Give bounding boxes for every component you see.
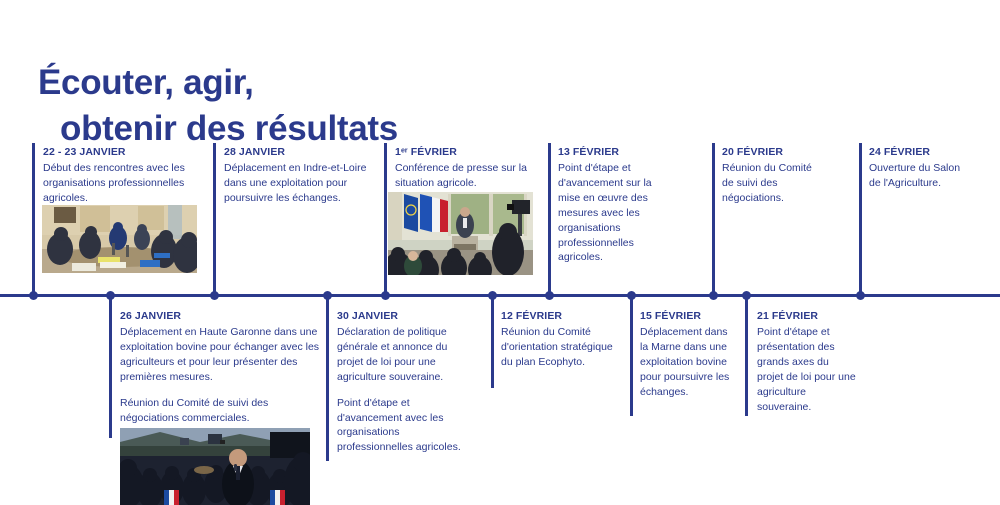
- entry-description-secondary: Point d'étape et d'avancement avec les o…: [337, 396, 467, 456]
- timeline-entry-26-janvier: 26 JANVIER Déplacement en Haute Garonne …: [120, 310, 320, 425]
- entry-date: 1ᵉʳ FÉVRIER: [395, 146, 540, 158]
- entry-date: 22 - 23 JANVIER: [43, 146, 208, 158]
- timeline-entry-28-janvier: 28 JANVIER Déplacement en Indre-et-Loire…: [224, 146, 379, 206]
- entry-description: Ouverture du Salon de l'Agriculture.: [869, 161, 974, 191]
- entry-description: Réunion du Comité de suivi des négociati…: [722, 161, 822, 206]
- timeline-stem-28-janvier: [213, 143, 216, 295]
- timeline-stem-1-fevrier: [384, 143, 387, 295]
- timeline-entry-21-fevrier: 21 FÉVRIER Point d'étape et présentation…: [757, 310, 857, 414]
- timeline-entry-30-janvier: 30 JANVIER Déclaration de politique géné…: [337, 310, 467, 455]
- entry-description: Déclaration de politique générale et ann…: [337, 325, 467, 385]
- timeline-entry-22-23-janvier: 22 - 23 JANVIER Début des rencontres ave…: [43, 146, 208, 206]
- entry-date: 24 FÉVRIER: [869, 146, 974, 158]
- outdoor-crowd-photo-graphic: [120, 428, 310, 505]
- timeline-entry-12-fevrier: 12 FÉVRIER Réunion du Comité d'orientati…: [501, 310, 621, 370]
- meeting-room-photo-graphic: [42, 205, 197, 273]
- entry-description: Point d'étape et présentation des grands…: [757, 325, 857, 414]
- timeline-entry-1-fevrier: 1ᵉʳ FÉVRIER Conférence de presse sur la …: [395, 146, 540, 191]
- entry-date: 26 JANVIER: [120, 310, 320, 322]
- timeline-stem-30-janvier: [326, 296, 329, 461]
- meeting-room-photo: [42, 205, 197, 273]
- outdoor-crowd-photo: [120, 428, 310, 505]
- entry-date: 30 JANVIER: [337, 310, 467, 322]
- timeline-entry-20-fevrier: 20 FÉVRIER Réunion du Comité de suivi de…: [722, 146, 822, 206]
- entry-date: 20 FÉVRIER: [722, 146, 822, 158]
- press-conference-photo-graphic: [388, 192, 533, 275]
- timeline-stem-24-fevrier: [859, 143, 862, 295]
- timeline-axis: [0, 294, 1000, 297]
- entry-description: Déplacement en Indre-et-Loire dans une e…: [224, 161, 379, 206]
- timeline-stem-22-23-janvier: [32, 143, 35, 295]
- entry-date: 13 FÉVRIER: [558, 146, 663, 158]
- timeline-entry-24-fevrier: 24 FÉVRIER Ouverture du Salon de l'Agric…: [869, 146, 974, 191]
- entry-description-secondary: Réunion du Comité de suivi des négociati…: [120, 396, 320, 426]
- entry-description: Déplacement en Haute Garonne dans une ex…: [120, 325, 320, 385]
- timeline-infographic: Écouter, agir, obtenir des résultats 22 …: [0, 0, 1000, 505]
- entry-description: Conférence de presse sur la situation ag…: [395, 161, 540, 191]
- press-conference-photo: [388, 192, 533, 275]
- timeline-stem-12-fevrier: [491, 296, 494, 388]
- entry-date: 21 FÉVRIER: [757, 310, 857, 322]
- page-title-line-1: Écouter, agir,: [38, 63, 254, 102]
- timeline-stem-15-fevrier: [630, 296, 633, 416]
- entry-date: 28 JANVIER: [224, 146, 379, 158]
- entry-date: 15 FÉVRIER: [640, 310, 732, 322]
- timeline-stem-21-fevrier: [745, 296, 748, 416]
- entry-description: Début des rencontres avec les organisati…: [43, 161, 208, 206]
- entry-description: Déplacement dans la Marne dans une explo…: [640, 325, 732, 400]
- timeline-stem-26-janvier: [109, 296, 112, 438]
- timeline-entry-13-fevrier: 13 FÉVRIER Point d'étape et d'avancement…: [558, 146, 663, 265]
- timeline-stem-13-fevrier: [548, 143, 551, 295]
- timeline-stem-20-fevrier: [712, 143, 715, 295]
- entry-description: Point d'étape et d'avancement sur la mis…: [558, 161, 663, 265]
- entry-date: 12 FÉVRIER: [501, 310, 621, 322]
- timeline-entry-15-fevrier: 15 FÉVRIER Déplacement dans la Marne dan…: [640, 310, 732, 400]
- entry-description: Réunion du Comité d'orientation stratégi…: [501, 325, 621, 370]
